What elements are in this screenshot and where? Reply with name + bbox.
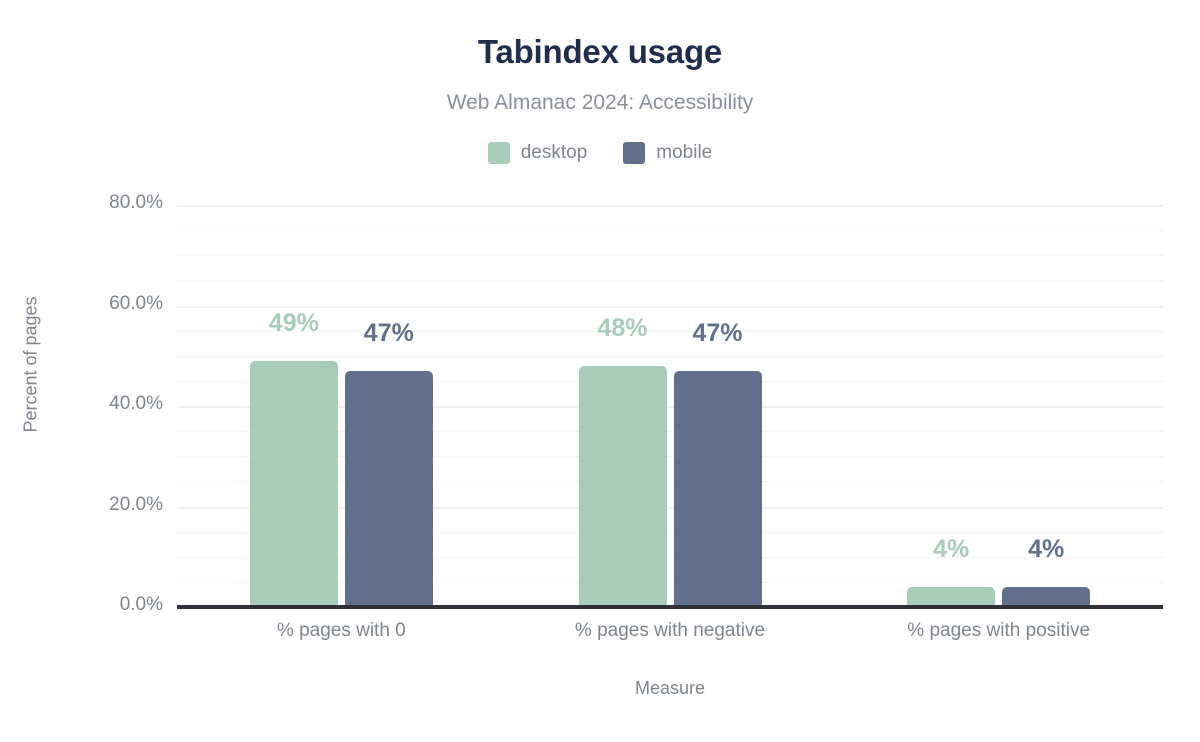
gridline-major [177,306,1163,308]
y-axis-title: Percent of pages [21,265,42,465]
x-tick-label: % pages with 0 [177,620,506,642]
x-tick-label: % pages with negative [506,620,835,642]
y-tick-label: 0.0% [0,594,177,616]
bar-desktop-2[interactable] [907,587,995,607]
x-axis-title: Measure [177,678,1163,699]
chart-container: Tabindex usage Web Almanac 2024: Accessi… [0,0,1200,742]
bar-mobile-0[interactable] [345,371,433,607]
legend-item-mobile[interactable]: mobile [623,142,712,164]
gridline-minor [177,255,1163,256]
bar-mobile-1[interactable] [674,371,762,607]
legend-swatch-desktop [488,142,510,164]
plot-area: 49%47%48%47%4%4% [177,205,1163,607]
x-axis-baseline [177,605,1163,609]
chart-title: Tabindex usage [0,33,1200,71]
gridline-minor [177,356,1163,357]
y-tick-label: 20.0% [0,494,177,516]
legend-label-mobile: mobile [656,142,712,164]
y-tick-label: 80.0% [0,192,177,214]
legend-label-desktop: desktop [521,142,588,164]
chart-legend: desktopmobile [0,142,1200,164]
bar-desktop-0[interactable] [250,361,338,607]
legend-swatch-mobile [623,142,645,164]
x-tick-label: % pages with positive [834,620,1163,642]
bar-value-label-mobile-2: 4% [990,535,1102,564]
bar-value-label-mobile-0: 47% [333,319,445,348]
legend-item-desktop[interactable]: desktop [488,142,588,164]
bar-desktop-1[interactable] [579,366,667,607]
gridline-minor [177,230,1163,231]
bar-mobile-2[interactable] [1002,587,1090,607]
bar-value-label-mobile-1: 47% [662,319,774,348]
gridline-minor [177,280,1163,281]
chart-subtitle: Web Almanac 2024: Accessibility [0,91,1200,115]
gridline-major [177,205,1163,207]
